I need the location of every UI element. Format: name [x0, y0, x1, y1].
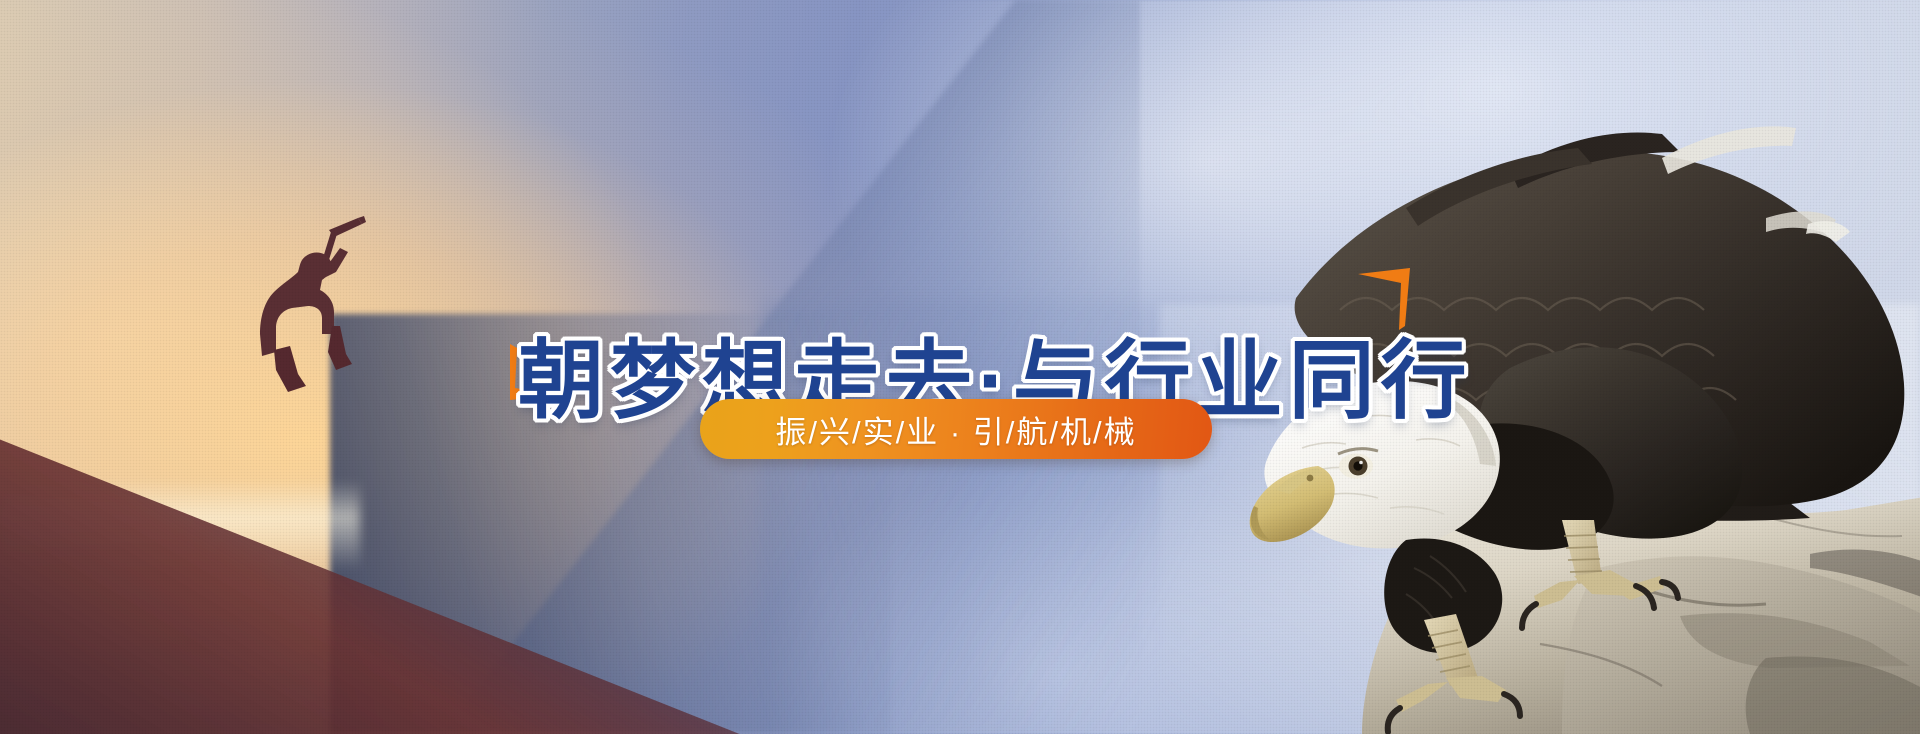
climber-silhouette-icon — [236, 214, 366, 404]
eagle-head — [1250, 381, 1500, 549]
bald-eagle-illustration — [1210, 48, 1920, 734]
hero-banner: 朝梦想走去·与行业同行 振/兴/实/业 · 引/航/机/械 — [0, 0, 1920, 734]
